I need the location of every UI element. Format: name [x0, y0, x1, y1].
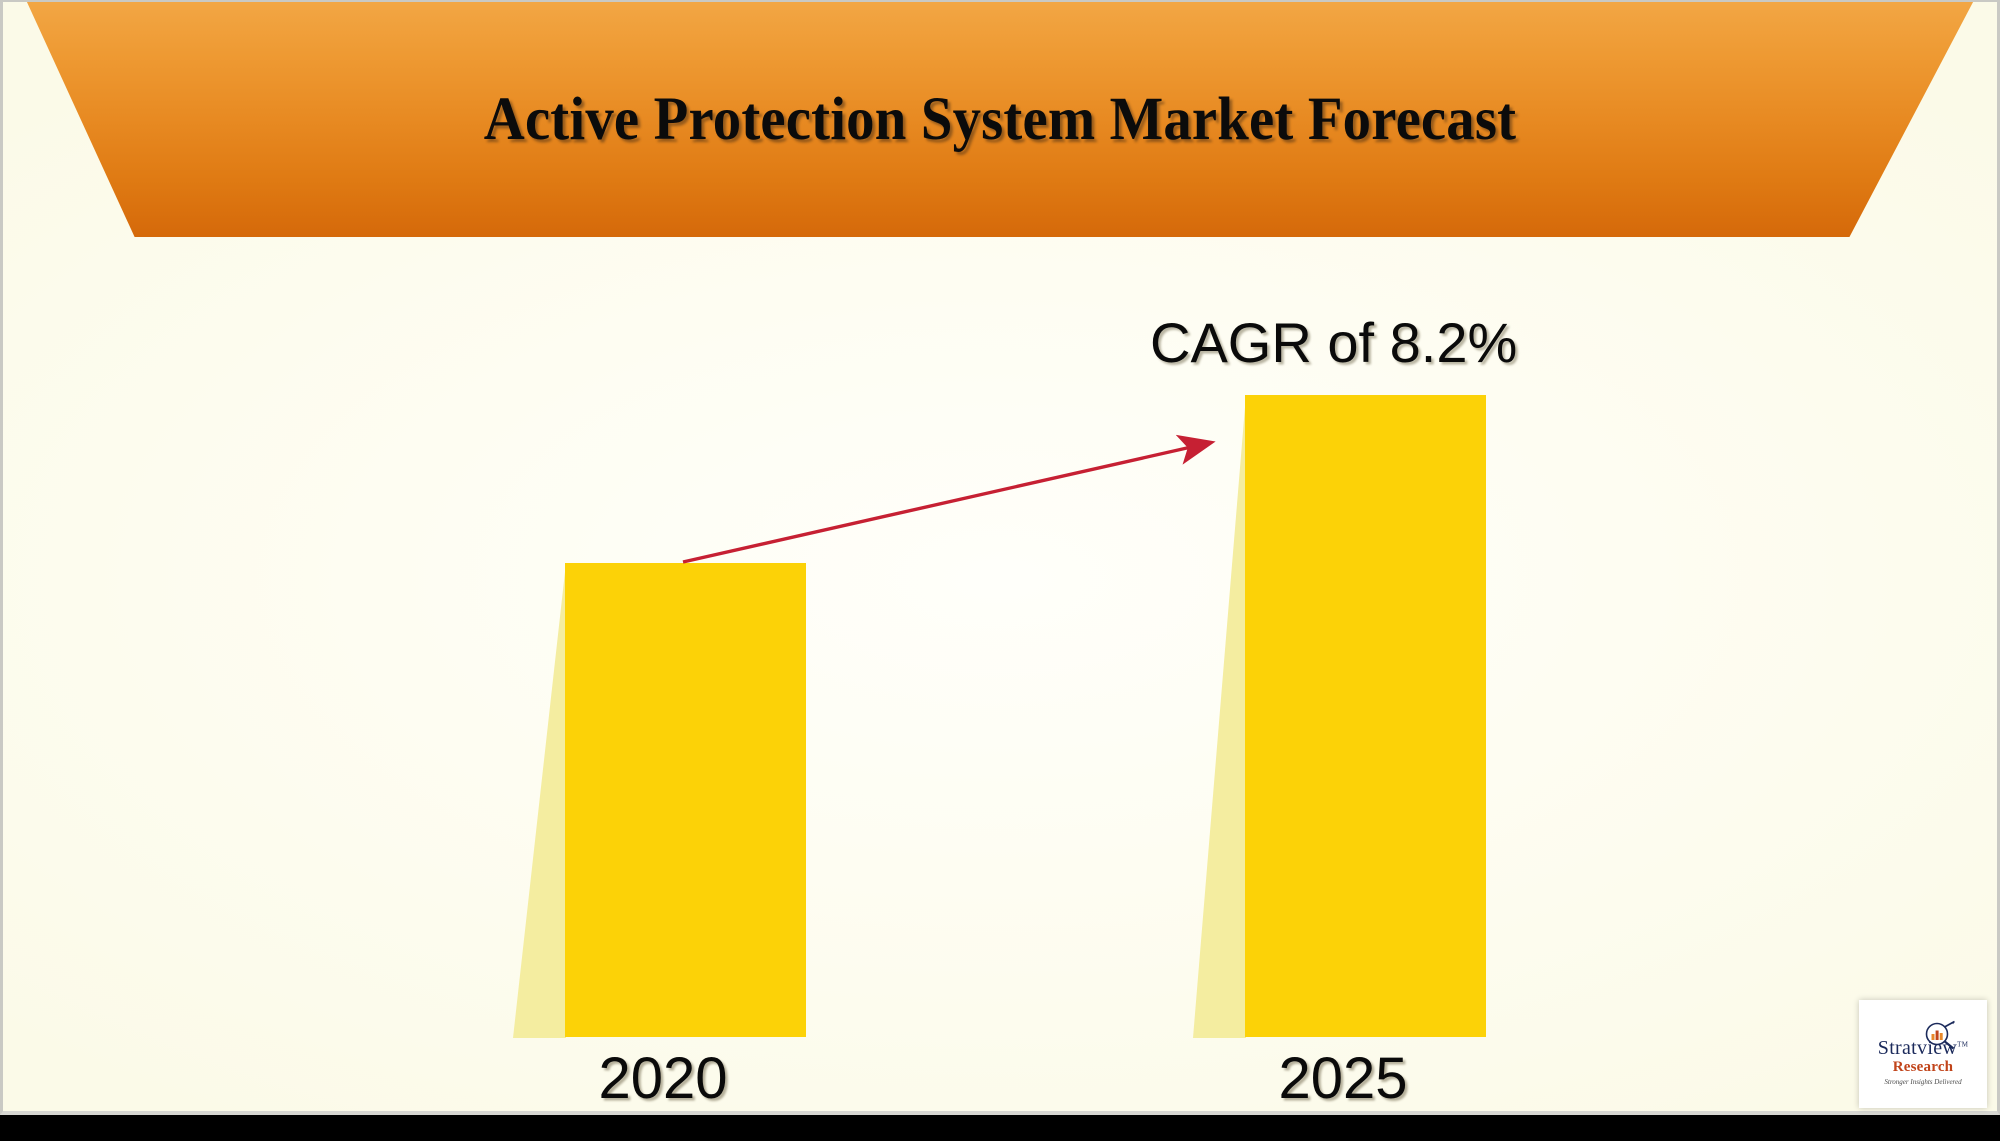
bar-front-face-2020 [565, 563, 806, 1037]
bottom-black-band [0, 1115, 2000, 1141]
bar-side-face-2020 [513, 563, 566, 1038]
logo-trademark: TM [1957, 1040, 1968, 1048]
cagr-annotation: CAGR of 8.2% [1150, 310, 1517, 375]
chart-plot-area: 2020 2025 CAGR of 8.2% [0, 0, 2000, 1115]
logo-brand-name: StratviewTM [1878, 1037, 1968, 1060]
logo-tagline: Stronger Insights Delivered [1884, 1078, 1961, 1086]
growth-arrow [0, 0, 2000, 1115]
logo-inner: StratviewTM Research Stronger Insights D… [1859, 1000, 1987, 1108]
slide-root: Active Protection System Market Forecast… [0, 0, 2000, 1141]
bar-group-2020[interactable]: 2020 [513, 563, 808, 1038]
logo-division: Research [1893, 1059, 1953, 1076]
logo-brand-text: Stratview [1878, 1037, 1957, 1059]
bar-side-face-2025 [1193, 395, 1246, 1038]
bar-label-2025: 2025 [1163, 1045, 1523, 1112]
bar-label-2020: 2020 [483, 1045, 843, 1112]
bar-front-face-2025 [1245, 395, 1486, 1037]
logo[interactable]: StratviewTM Research Stronger Insights D… [1859, 1000, 1987, 1108]
arrow-line [683, 443, 1209, 562]
bar-group-2025[interactable]: 2025 [1193, 395, 1488, 1038]
